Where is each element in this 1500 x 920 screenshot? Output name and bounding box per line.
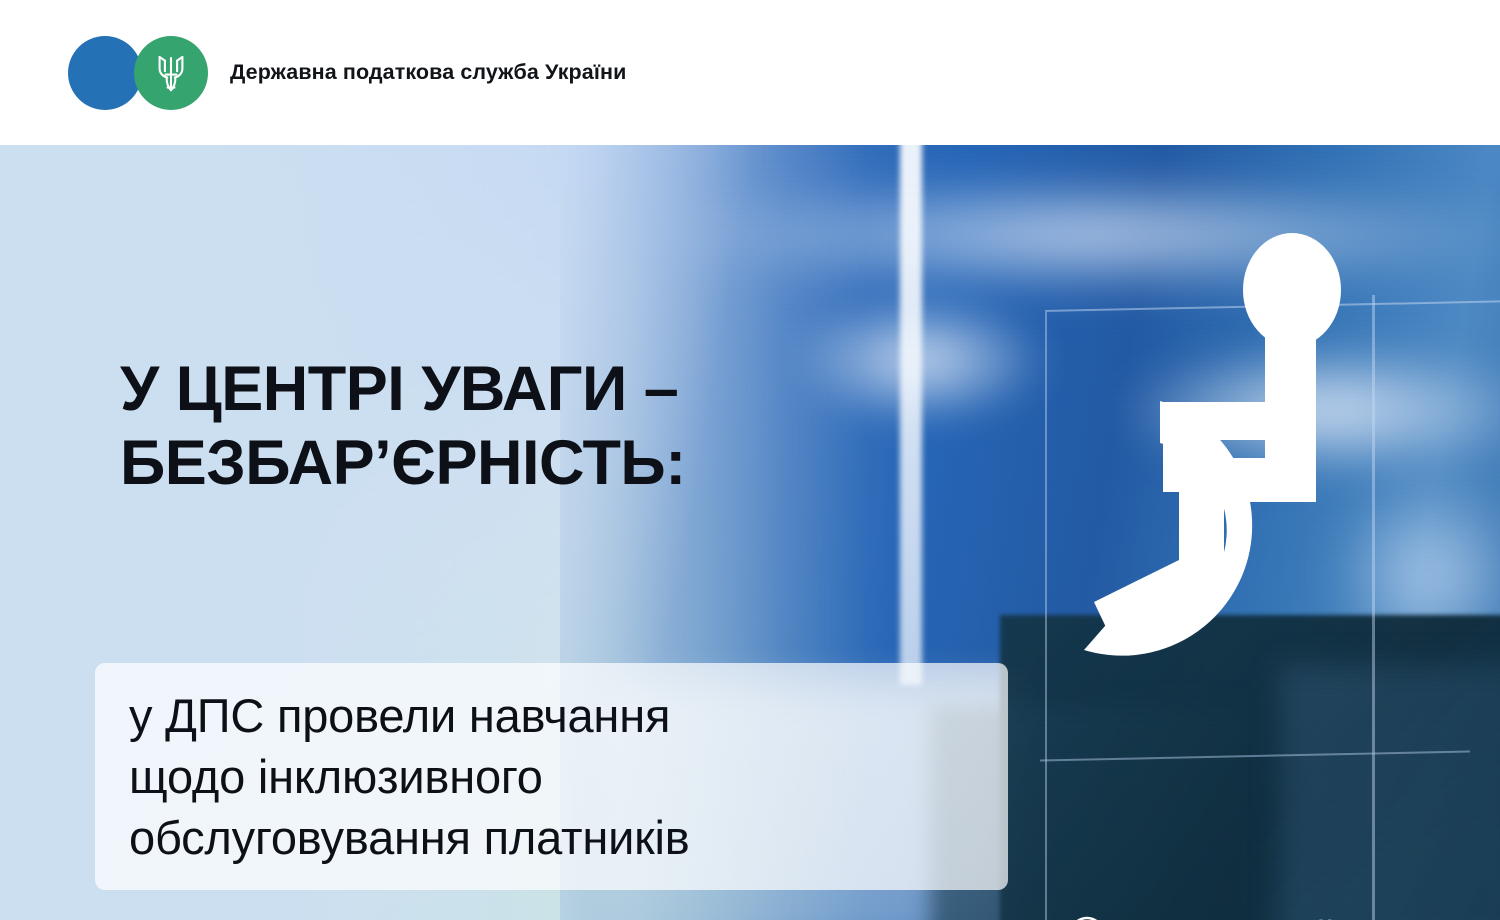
hero-stage: У ЦЕНТРІ УВАГИ – БЕЗБАР’ЄРНІСТЬ: у ДПС п… [0, 145, 1500, 920]
organization-logo [68, 36, 208, 110]
barrier-free-badge: інформаційна безбар’єрність [1042, 881, 1384, 920]
header-bar: Державна податкова служба України [0, 0, 1500, 145]
subtitle-panel: у ДПС провели навчання щодо інклюзивного… [95, 663, 1008, 890]
braille-dots-icon [1042, 916, 1146, 920]
logo-blue-circle-icon [68, 36, 142, 110]
organization-name: Державна податкова служба України [230, 58, 626, 86]
page-subtitle: у ДПС провели навчання щодо інклюзивного… [129, 685, 974, 868]
barrier-free-label-line1: інформаційна [1164, 916, 1384, 920]
barrier-free-label: інформаційна безбар’єрність [1164, 881, 1384, 920]
poster-root: Державна податкова служба України [0, 0, 1500, 920]
wheelchair-accessibility-icon [1044, 230, 1384, 670]
page-title: У ЦЕНТРІ УВАГИ – БЕЗБАР’ЄРНІСТЬ: [120, 353, 940, 500]
ukraine-trident-icon [134, 36, 208, 110]
